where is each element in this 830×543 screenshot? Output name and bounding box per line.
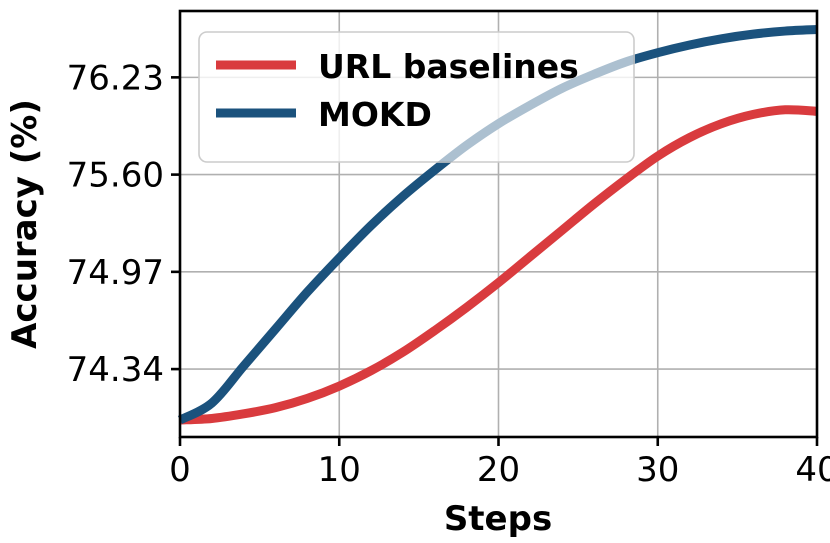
chart-figure: 010203040 74.3474.9775.6076.23 Steps Acc… xyxy=(0,0,830,543)
x-tick-label: 0 xyxy=(169,450,191,490)
x-tick-label: 10 xyxy=(318,450,361,490)
x-tick-label: 30 xyxy=(636,450,679,490)
x-axis-title: Steps xyxy=(444,499,552,539)
chart-legend: URL baselines MOKD xyxy=(199,32,634,162)
legend-label-url-baselines: URL baselines xyxy=(318,47,579,86)
y-tick-label: 74.34 xyxy=(67,350,164,390)
x-tick-label: 20 xyxy=(477,450,520,490)
legend-label-mokd: MOKD xyxy=(318,95,432,134)
y-tickmarks xyxy=(171,77,180,369)
y-tick-label: 75.60 xyxy=(67,156,164,196)
x-tick-labels: 010203040 xyxy=(169,450,830,490)
y-axis-title: Accuracy (%) xyxy=(5,99,45,349)
y-tick-label: 74.97 xyxy=(67,253,164,293)
x-tick-label: 40 xyxy=(795,450,830,490)
y-tick-labels: 74.3474.9775.6076.23 xyxy=(67,58,164,390)
line-chart: 010203040 74.3474.9775.6076.23 Steps Acc… xyxy=(0,0,830,543)
y-tick-label: 76.23 xyxy=(67,58,164,98)
x-tickmarks xyxy=(180,437,817,446)
